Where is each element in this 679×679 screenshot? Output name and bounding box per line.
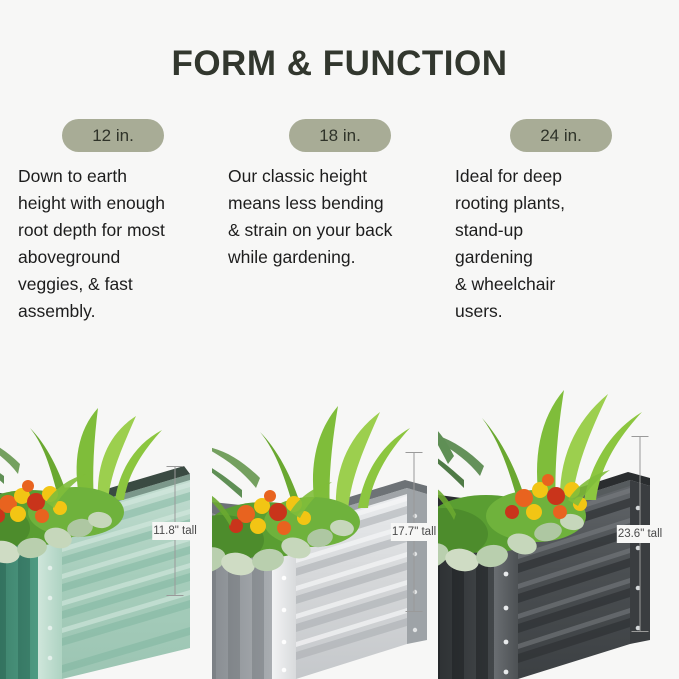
infographic-page: FORM & FUNCTION 12 in. 18 in. 24 in. Dow… bbox=[0, 0, 679, 679]
planter-illustration-24in bbox=[438, 330, 653, 679]
dimension-line-12in: 11.8" tall bbox=[160, 466, 190, 596]
product-photo-24in bbox=[438, 330, 653, 679]
dimension-line-24in: 23.6" tall bbox=[625, 436, 655, 632]
dimension-cap-bottom bbox=[632, 631, 649, 632]
dimension-cap-bottom bbox=[406, 611, 423, 612]
description-12in: Down to earth height with enough root de… bbox=[18, 163, 218, 325]
description-18in: Our classic height means less bending & … bbox=[228, 163, 433, 271]
product-photo-18in bbox=[212, 340, 427, 679]
description-24in: Ideal for deep rooting plants, stand-up … bbox=[455, 163, 655, 325]
badge-height-12in: 12 in. bbox=[62, 119, 164, 152]
dimension-cap-top bbox=[167, 466, 184, 467]
dimension-cap-top bbox=[406, 452, 423, 453]
dimension-cap-top bbox=[632, 436, 649, 437]
badge-height-18in: 18 in. bbox=[289, 119, 391, 152]
dimension-cap-bottom bbox=[167, 595, 184, 596]
page-title: FORM & FUNCTION bbox=[0, 44, 679, 84]
badge-height-24in: 24 in. bbox=[510, 119, 612, 152]
dimension-line-18in: 17.7" tall bbox=[399, 452, 429, 612]
dimension-label-24in: 23.6" tall bbox=[617, 525, 663, 543]
dimension-label-18in: 17.7" tall bbox=[391, 523, 437, 541]
dimension-label-12in: 11.8" tall bbox=[152, 522, 198, 540]
planter-illustration-18in bbox=[212, 340, 427, 679]
